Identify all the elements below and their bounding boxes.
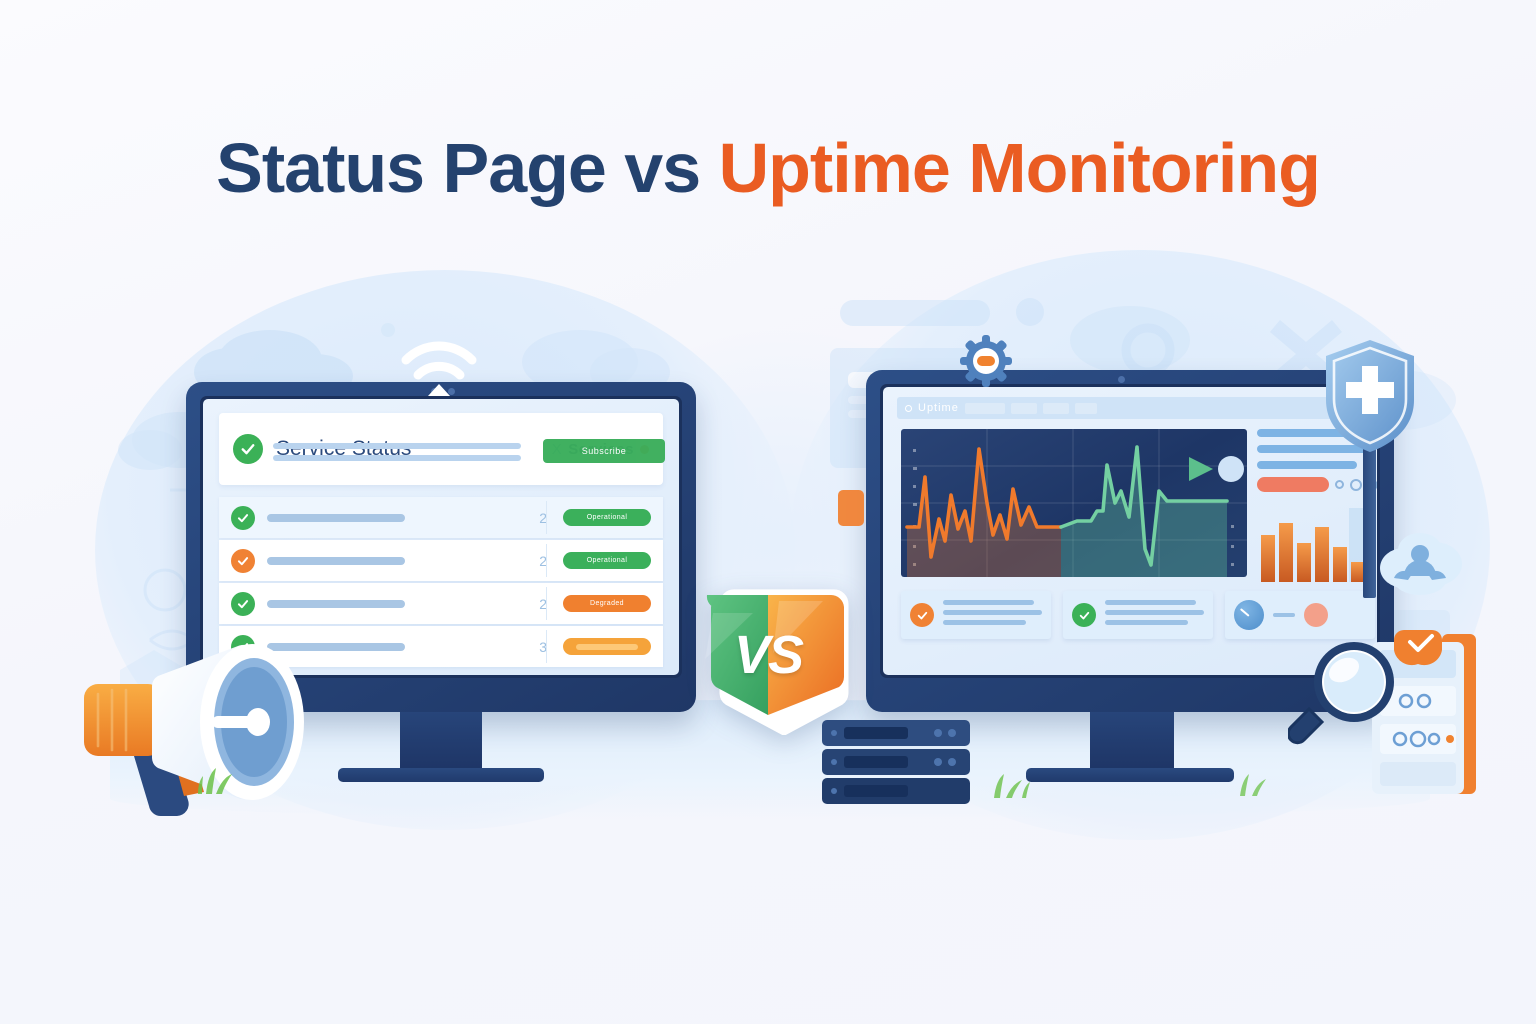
right-monitor-camera — [1118, 376, 1125, 383]
summary-card[interactable] — [1063, 591, 1213, 639]
status-dot-icon — [1304, 603, 1328, 627]
placeholder-line — [273, 455, 521, 461]
dashboard-topbar-label: Uptime — [918, 402, 959, 414]
grass-decor — [196, 760, 266, 794]
row-divider — [546, 630, 547, 663]
dashboard-topbar: Uptime — [897, 397, 1363, 419]
grass-decor — [1232, 768, 1292, 796]
status-badge: Operational — [563, 509, 651, 526]
sidebar-alert-row — [1257, 477, 1377, 492]
summary-card[interactable] — [901, 591, 1051, 639]
table-row[interactable]: 2 Operational — [219, 540, 663, 581]
status-badge-progress — [563, 638, 651, 655]
table-row[interactable]: 2 Degraded — [219, 583, 663, 624]
row-divider — [546, 544, 547, 577]
ring-icon — [1350, 479, 1362, 491]
check-circle-icon — [231, 549, 255, 573]
sidebar-bar-chart — [1257, 504, 1375, 582]
grass-decor — [986, 768, 1056, 798]
topbar-chip — [965, 403, 1005, 414]
check-circle-icon — [233, 434, 263, 464]
row-placeholder-bar — [267, 514, 405, 522]
subscribe-button[interactable]: Subscribe — [543, 439, 665, 463]
gear-icon — [960, 335, 1012, 387]
check-circle-icon — [1072, 603, 1096, 627]
title-part-vs: vs — [624, 129, 718, 207]
status-badge: Degraded — [563, 595, 651, 612]
row-divider — [546, 501, 547, 534]
gauge-icon — [1234, 600, 1264, 630]
topbar-chip — [1043, 403, 1069, 414]
check-circle-icon — [231, 592, 255, 616]
connector-line — [1273, 613, 1295, 617]
vs-label: VS — [683, 583, 853, 735]
table-row[interactable]: 2 Operational — [219, 497, 663, 538]
placeholder-line — [273, 443, 521, 449]
server-stack-icon — [818, 718, 978, 808]
title-part-status-page: Status Page — [216, 129, 624, 207]
response-time-chart — [901, 429, 1247, 577]
row-placeholder-bar — [267, 600, 405, 608]
vs-badge: VS — [683, 583, 853, 735]
status-badge: Operational — [563, 552, 651, 569]
cloud-user-icon — [1372, 528, 1470, 602]
topbar-chip — [1075, 403, 1097, 414]
page-title: Status Page vs Uptime Monitoring — [0, 128, 1536, 208]
row-placeholder-bar — [267, 557, 405, 565]
check-circle-icon — [231, 506, 255, 530]
check-circle-icon — [910, 603, 934, 627]
header-placeholder-lines — [273, 443, 521, 467]
card-placeholder-lines — [943, 600, 1042, 630]
play-triangle-icon — [1189, 457, 1213, 481]
left-monitor-stand-base — [338, 768, 544, 782]
right-monitor-stand-base — [1026, 768, 1234, 782]
topbar-chip — [1011, 403, 1037, 414]
magnifier-icon — [1288, 630, 1408, 750]
row-divider — [546, 587, 547, 620]
title-part-uptime-monitoring: Uptime Monitoring — [719, 129, 1320, 207]
left-monitor-stand-neck — [400, 712, 482, 770]
wifi-icon — [398, 336, 480, 398]
card-placeholder-lines — [1105, 600, 1204, 630]
illustration-canvas: Status Page vs Uptime Monitoring — [0, 0, 1536, 1024]
sidebar-placeholder-line — [1257, 461, 1357, 469]
lock-chip-icon — [838, 490, 864, 526]
status-dot-icon — [905, 405, 912, 412]
shield-cross-icon — [1322, 338, 1418, 454]
alert-bar — [1257, 477, 1329, 492]
right-monitor-stand-neck — [1090, 712, 1174, 770]
ring-icon — [1335, 480, 1344, 489]
